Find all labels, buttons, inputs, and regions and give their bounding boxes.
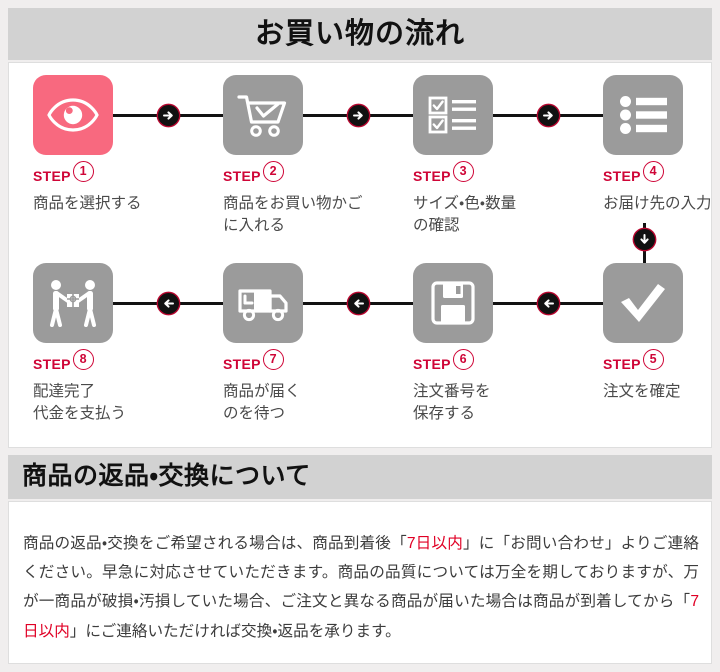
step-5[interactable]: STEP 5 注文を確定	[601, 263, 720, 448]
step-3-number: 3	[453, 161, 474, 182]
step-8-word: STEP	[33, 357, 71, 371]
step-4-number: 4	[643, 161, 664, 182]
list-icon	[603, 75, 683, 155]
flow-panel: STEP 1 商品を選択する STEP 2	[8, 62, 712, 448]
step-3-label: STEP 3	[413, 165, 581, 186]
handover-package-icon	[33, 263, 113, 343]
step-5-label: STEP 5	[603, 353, 720, 374]
shopping-cart-icon	[223, 75, 303, 155]
flow-section-title: お買い物の流れ	[8, 8, 712, 60]
step-2-number: 2	[263, 161, 284, 182]
step-7-number: 7	[263, 349, 284, 370]
returns-deadline-highlight: 7日以内	[407, 535, 463, 552]
step-7-text: 商品が届く のを待つ	[223, 381, 391, 425]
step-7[interactable]: STEP 7 商品が届く のを待つ	[221, 263, 391, 448]
returns-text-run-0: 商品の返品・交換をご希望される場合は、商品到着後「	[23, 535, 407, 552]
step-1-word: STEP	[33, 169, 71, 183]
step-6-number: 6	[453, 349, 474, 370]
arrow-4-to-5-icon	[634, 229, 655, 250]
step-6-word: STEP	[413, 357, 451, 371]
step-8-label: STEP 8	[33, 353, 201, 374]
checkmark-icon	[603, 263, 683, 343]
floppy-save-icon	[413, 263, 493, 343]
step-7-word: STEP	[223, 357, 261, 371]
step-1[interactable]: STEP 1 商品を選択する	[31, 75, 201, 260]
step-5-word: STEP	[603, 357, 641, 371]
returns-policy-paragraph: 商品の返品・交換をご希望される場合は、商品到着後「7日以内」に「お問い合わせ」よ…	[23, 529, 699, 646]
step-4[interactable]: STEP 4 お届け先の入力	[601, 75, 720, 260]
step-3-word: STEP	[413, 169, 451, 183]
step-1-text: 商品を選択する	[33, 193, 201, 215]
checklist-icon	[413, 75, 493, 155]
step-6-label: STEP 6	[413, 353, 581, 374]
step-4-label: STEP 4	[603, 165, 720, 186]
step-6-text: 注文番号を 保存する	[413, 381, 581, 425]
returns-text-run-4: 」にご連絡いただければ交換・返品を承ります。	[70, 623, 401, 640]
step-2-word: STEP	[223, 169, 261, 183]
step-8[interactable]: STEP 8 配達完了 代金を支払う	[31, 263, 201, 448]
step-5-number: 5	[643, 349, 664, 370]
returns-panel: 商品の返品・交換をご希望される場合は、商品到着後「7日以内」に「お問い合わせ」よ…	[8, 501, 712, 664]
step-1-label: STEP 1	[33, 165, 201, 186]
step-2-text: 商品をお買い物かご に入れる	[223, 193, 391, 237]
returns-section-title: 商品の返品・交換について	[8, 455, 712, 499]
delivery-truck-icon	[223, 263, 303, 343]
step-4-text: お届け先の入力	[603, 193, 720, 215]
steps-row-bottom: STEP 8 配達完了 代金を支払う	[9, 263, 713, 453]
step-3-text: サイズ・色・数量 の確認	[413, 193, 581, 237]
step-5-text: 注文を確定	[603, 381, 720, 403]
step-3[interactable]: STEP 3 サイズ・色・数量 の確認	[411, 75, 581, 260]
steps-row-top: STEP 1 商品を選択する STEP 2	[9, 75, 713, 265]
step-8-text: 配達完了 代金を支払う	[33, 381, 201, 425]
shopping-flow-page: お買い物の流れ	[0, 0, 720, 672]
step-8-number: 8	[73, 349, 94, 370]
step-1-number: 1	[73, 161, 94, 182]
step-2-label: STEP 2	[223, 165, 391, 186]
step-2[interactable]: STEP 2 商品をお買い物かご に入れる	[221, 75, 391, 260]
step-6[interactable]: STEP 6 注文番号を 保存する	[411, 263, 581, 448]
step-4-word: STEP	[603, 169, 641, 183]
step-7-label: STEP 7	[223, 353, 391, 374]
eye-icon	[33, 75, 113, 155]
